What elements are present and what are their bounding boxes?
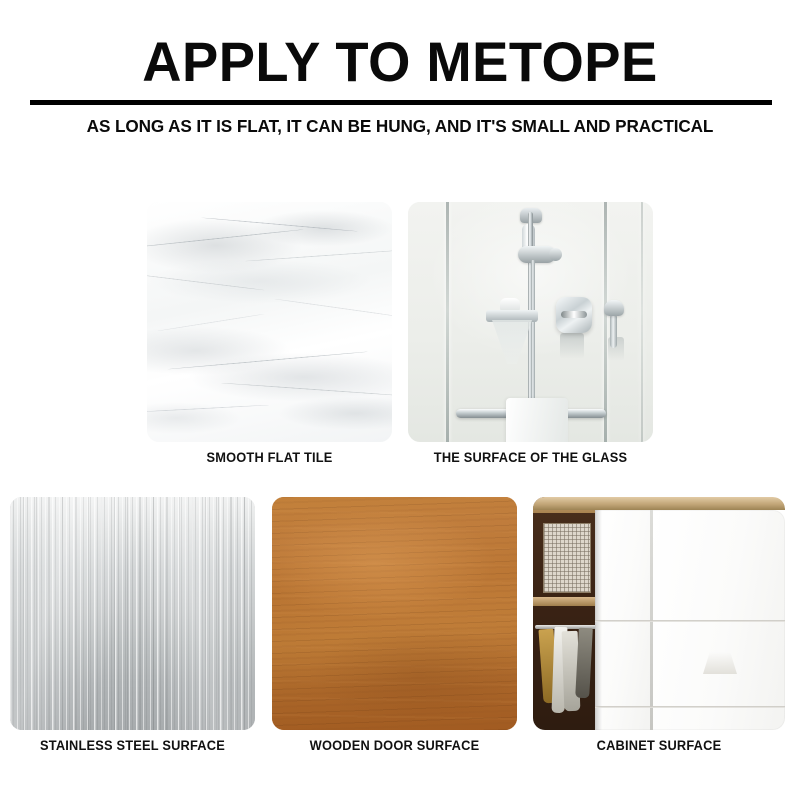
shower-valve: [556, 297, 592, 333]
wood-image: [272, 497, 517, 730]
page-title: APPLY TO METOPE: [12, 0, 788, 90]
tile-caption: SMOOTH FLAT TILE: [153, 450, 386, 465]
glass-panel-edge: [446, 202, 449, 442]
header: APPLY TO METOPE AS LONG AS IT IS FLAT, I…: [0, 0, 800, 90]
marble-texture: [147, 202, 392, 442]
steel-image: [10, 497, 255, 730]
wardrobe-shelf: [533, 597, 601, 606]
glass-texture: [408, 202, 653, 442]
cabinet-image: [533, 497, 785, 730]
shower-bracket: [518, 246, 556, 263]
wood-caption: WOODEN DOOR SURFACE: [278, 738, 511, 753]
valve-shadow: [560, 333, 584, 359]
white-towel: [506, 398, 568, 442]
sample-steel: STAINLESS STEEL SURFACE: [10, 497, 255, 730]
cabinet-texture: [533, 497, 785, 730]
steel-caption: STAINLESS STEEL SURFACE: [16, 738, 249, 753]
cabinet-caption: CABINET SURFACE: [539, 738, 778, 753]
shower-hose: [531, 260, 535, 400]
tile-image: [147, 202, 392, 442]
rattan-mesh-panel: [543, 523, 591, 593]
wood-sheen: [272, 497, 517, 730]
wardrobe-top-trim: [533, 497, 785, 510]
glass-image: [408, 202, 653, 442]
sample-tile: SMOOTH FLAT TILE: [147, 202, 392, 442]
steel-sheen: [10, 497, 255, 730]
sample-cabinet: CABINET SURFACE: [533, 497, 785, 730]
title-divider: [30, 100, 772, 105]
sample-wood: WOODEN DOOR SURFACE: [272, 497, 517, 730]
hanging-garment: [575, 628, 593, 699]
door-groove: [595, 620, 785, 622]
wardrobe-interior: [533, 497, 601, 730]
sample-glass: THE SURFACE OF THE GLASS: [408, 202, 653, 442]
glass-panel-edge: [604, 202, 607, 442]
shower-lever: [604, 300, 624, 316]
page-subtitle: AS LONG AS IT IS FLAT, IT CAN BE HUNG, A…: [8, 114, 792, 138]
infographic-page: APPLY TO METOPE AS LONG AS IT IS FLAT, I…: [0, 0, 800, 800]
glass-caption: THE SURFACE OF THE GLASS: [414, 450, 647, 465]
glass-panel-edge: [641, 202, 643, 442]
shower-lever-stem: [610, 314, 617, 348]
door-groove: [595, 706, 785, 708]
